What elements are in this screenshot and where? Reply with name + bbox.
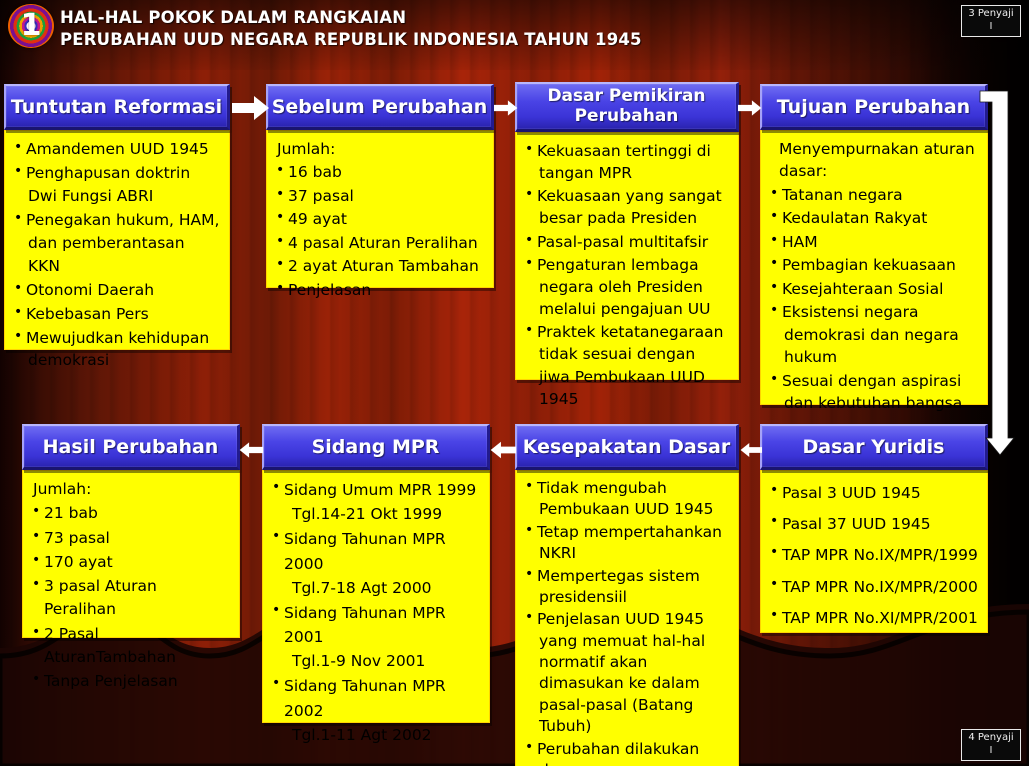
list-dasar-yuridis: Pasal 3 UUD 1945 Pasal 37 UUD 1945 TAP M… (769, 478, 979, 633)
list-item-text: Penegakan hukum, HAM, (26, 211, 219, 229)
node-header-dasar-yuridis[interactable]: Dasar Yuridis (760, 424, 988, 470)
logo-number: 1 (8, 4, 54, 48)
list-item-text: HAM (782, 233, 818, 251)
list-item: Otonomi Daerah (13, 279, 221, 302)
list-item: 16 bab (275, 161, 485, 183)
list-item: Tatanan negara (769, 184, 979, 206)
list-item: Penegakan hukum, HAM,dan pemberantasan K… (13, 209, 221, 278)
list-item: Kesejahteraan Sosial (769, 278, 979, 300)
list-item: Sidang Umum MPR 1999Tgl.14-21 Okt 1999 (271, 478, 481, 526)
list-item-text: Tidak mengubah (537, 479, 667, 497)
list-item-text: 170 ayat (44, 553, 113, 571)
list-item-cont: yang memuat hal-hal normatif akan dimasu… (537, 631, 730, 738)
arrow-left-icon-dasar-yuridis-to-kesepakatan (740, 437, 762, 463)
list-item-cont: negara oleh Presiden melalui pengajuan U… (537, 276, 730, 320)
list-item-text: Kekuasaan yang sangat (537, 187, 722, 205)
list-item-text: Penghapusan doktrin (26, 164, 190, 182)
arrow-right-icon-sebelum-to-dasar-pemikiran (494, 95, 518, 121)
list-item-text: TAP MPR No.IX/MPR/1999 (782, 546, 978, 564)
node-lead-sebelum-perubahan: Jumlah: (275, 138, 485, 160)
node-lead-tujuan-perubahan: Menyempurnakan aturan dasar: (769, 138, 979, 183)
list-item: Sidang Tahunan MPR 2002Tgl.1-11 Agt 2002 (271, 674, 481, 747)
list-item-cont: demokrasi dan negara hukum (782, 324, 979, 369)
list-item-text: Penjelasan (288, 281, 371, 299)
node-tuntutan-reformasi[interactable]: Tuntutan Reformasi Amandemen UUD 1945 Pe… (4, 84, 230, 350)
list-item-text: Sidang Tahunan MPR 2001 (284, 604, 446, 646)
list-item: Mempertegas sistempresidensiil (524, 566, 730, 609)
node-dasar-pemikiran-perubahan[interactable]: Dasar Pemikiran Perubahan Kekuasaan tert… (515, 82, 739, 380)
list-sidang-mpr: Sidang Umum MPR 1999Tgl.14-21 Okt 1999 S… (271, 478, 481, 747)
list-item-text: 73 pasal (44, 529, 110, 547)
arrow-wrap-icon-tujuan-to-dasar-yuridis (978, 86, 1024, 471)
list-dasar-pemikiran-perubahan: Kekuasaan tertinggi ditangan MPR Kekuasa… (524, 140, 730, 410)
list-item-cont: Tgl.7-18 Agt 2000 (284, 576, 481, 600)
list-item: Penjelasan (275, 279, 485, 301)
list-item: Sesuai dengan aspirasidan kebutuhan bang… (769, 370, 979, 415)
list-item-cont: besar pada Presiden (537, 207, 730, 229)
list-item-text: Tatanan negara (782, 186, 903, 204)
list-item-text: Mewujudkan kehidupan (26, 329, 209, 347)
list-hasil-perubahan: 21 bab 73 pasal 170 ayat 3 pasal Aturan … (31, 502, 231, 693)
list-item-text: Sidang Umum MPR 1999 (284, 481, 476, 499)
list-item-text: 4 pasal Aturan Peralihan (288, 234, 478, 252)
list-item-text: 37 pasal (288, 187, 354, 205)
list-item-cont: Pembukaan UUD 1945 (537, 499, 730, 520)
node-header-tujuan-perubahan[interactable]: Tujuan Perubahan (760, 84, 988, 130)
node-sebelum-perubahan[interactable]: Sebelum Perubahan Jumlah: 16 bab 37 pasa… (266, 84, 494, 288)
list-item: Amandemen UUD 1945 (13, 138, 221, 161)
node-header-dasar-pemikiran-perubahan[interactable]: Dasar Pemikiran Perubahan (515, 82, 739, 132)
list-item-text: Otonomi Daerah (26, 281, 154, 299)
list-item-text: Penjelasan UUD 1945 (537, 610, 704, 628)
list-item: Pasal-pasal multitafsir (524, 231, 730, 253)
list-item-text: Kekuasaan tertinggi di (537, 142, 711, 160)
list-item-text: 21 bab (44, 504, 98, 522)
list-item-text: Sidang Tahunan MPR 2002 (284, 677, 446, 719)
arrow-right-icon-dasar-pemikiran-to-tujuan (738, 95, 762, 121)
badge-bottom-line1: 4 Penyaji (968, 732, 1013, 743)
list-item: 170 ayat (31, 551, 231, 574)
list-item-cont: dan pemberantasan KKN (26, 232, 221, 278)
list-item: Penghapusan doktrinDwi Fungsi ABRI (13, 162, 221, 208)
list-item: Kekuasaan tertinggi ditangan MPR (524, 140, 730, 184)
list-item: Sidang Tahunan MPR 2001Tgl.1-9 Nov 2001 (271, 601, 481, 674)
list-item: 37 pasal (275, 185, 485, 207)
list-item-text: Pembagian kekuasaan (782, 256, 956, 274)
node-body-dasar-pemikiran-perubahan: Kekuasaan tertinggi ditangan MPR Kekuasa… (515, 132, 739, 380)
node-body-sidang-mpr: Sidang Umum MPR 1999Tgl.14-21 Okt 1999 S… (262, 470, 490, 723)
list-item: 49 ayat (275, 208, 485, 230)
arrow-right-icon-tuntutan-to-sebelum (232, 95, 270, 121)
list-item-text: 2 Pasal AturanTambahan (44, 625, 176, 666)
list-item: Pembagian kekuasaan (769, 254, 979, 276)
list-item-cont: dan kebutuhan bangsa (782, 392, 979, 414)
list-item-text: Tetap mempertahankan (537, 523, 722, 541)
list-item: Penjelasan UUD 1945yang memuat hal-hal n… (524, 609, 730, 737)
list-item-text: 49 ayat (288, 210, 347, 228)
list-item: Mewujudkan kehidupandemokrasi (13, 327, 221, 373)
node-header-hasil-perubahan[interactable]: Hasil Perubahan (22, 424, 240, 470)
title-line-2: PERUBAHAN UUD NEGARA REPUBLIK INDONESIA … (60, 29, 760, 51)
badge-top-line1: 3 Penyaji (968, 8, 1013, 19)
node-header-sebelum-perubahan[interactable]: Sebelum Perubahan (266, 84, 494, 130)
list-tuntutan-reformasi: Amandemen UUD 1945 Penghapusan doktrinDw… (13, 138, 221, 372)
list-sebelum-perubahan: 16 bab 37 pasal 49 ayat 4 pasal Aturan P… (275, 161, 485, 301)
list-item-text: Tanpa Penjelasan (44, 672, 178, 690)
node-lead-hasil-perubahan: Jumlah: (31, 478, 231, 501)
list-item: 21 bab (31, 502, 231, 525)
list-item-cont: NKRI (537, 543, 730, 564)
arrow-left-icon-sidang-to-hasil (239, 437, 263, 463)
list-item-text: Praktek ketatanegaraan (537, 323, 723, 341)
node-hasil-perubahan[interactable]: Hasil Perubahan Jumlah: 21 bab 73 pasal … (22, 424, 240, 638)
list-item-cont: Tgl.1-11 Agt 2002 (284, 723, 481, 747)
title-line-1: HAL-HAL POKOK DALAM RANGKAIAN (60, 7, 760, 29)
list-item-text: TAP MPR No.IX/MPR/2000 (782, 578, 978, 596)
list-item-text: Pengaturan lembaga (537, 256, 699, 274)
list-item-cont: Tgl.1-9 Nov 2001 (284, 649, 481, 673)
list-item-cont: demokrasi (26, 349, 221, 372)
node-body-dasar-yuridis: Pasal 3 UUD 1945 Pasal 37 UUD 1945 TAP M… (760, 470, 988, 633)
list-item-text: Pasal-pasal multitafsir (537, 233, 708, 251)
list-item-cont: tidak sesuai dengan jiwa Pembukaan UUD 1… (537, 343, 730, 409)
list-item: 2 ayat Aturan Tambahan (275, 255, 485, 277)
list-item-cont: presidensiil (537, 587, 730, 608)
node-tujuan-perubahan[interactable]: Tujuan Perubahan Menyempurnakan aturan d… (760, 84, 988, 405)
list-item-text: 3 pasal Aturan Peralihan (44, 577, 157, 618)
list-item: Perubahan dilakukandengan cara “adendum” (524, 739, 730, 766)
arrow-left-icon-kesepakatan-to-sidang (490, 437, 516, 463)
page-title: HAL-HAL POKOK DALAM RANGKAIAN PERUBAHAN … (60, 7, 760, 51)
list-item-text: 16 bab (288, 163, 342, 181)
slide-title-bar: 1 HAL-HAL POKOK DALAM RANGKAIAN PERUBAHA… (0, 0, 1029, 66)
list-item-cont: tangan MPR (537, 162, 730, 184)
node-body-tuntutan-reformasi: Amandemen UUD 1945 Penghapusan doktrinDw… (4, 130, 230, 350)
list-item-cont: dengan cara “adendum” (537, 760, 730, 766)
node-header-sidang-mpr[interactable]: Sidang MPR (262, 424, 490, 470)
node-header-kesepakatan-dasar[interactable]: Kesepakatan Dasar (515, 424, 739, 470)
node-sidang-mpr[interactable]: Sidang MPR Sidang Umum MPR 1999Tgl.14-21… (262, 424, 490, 723)
list-item: Pasal 3 UUD 1945 (769, 478, 979, 508)
node-kesepakatan-dasar[interactable]: Kesepakatan Dasar Tidak mengubahPembukaa… (515, 424, 739, 766)
list-item: TAP MPR No.IX/MPR/2000 (769, 572, 979, 602)
list-item: 73 pasal (31, 527, 231, 550)
list-item-text: Sidang Tahunan MPR 2000 (284, 530, 446, 572)
list-item-cont: Tgl.14-21 Okt 1999 (284, 502, 481, 526)
list-item-text: Eksistensi negara (782, 303, 919, 321)
list-kesepakatan-dasar: Tidak mengubahPembukaan UUD 1945 Tetap m… (524, 478, 730, 766)
list-item: HAM (769, 231, 979, 253)
list-item-text: Pasal 3 UUD 1945 (782, 484, 921, 502)
list-item: Kekuasaan yang sangatbesar pada Presiden (524, 185, 730, 229)
badge-bottom-right: 4 Penyaji I (961, 729, 1021, 761)
list-item: 4 pasal Aturan Peralihan (275, 232, 485, 254)
list-item: Tanpa Penjelasan (31, 670, 231, 693)
list-item: 2 Pasal AturanTambahan (31, 623, 231, 670)
badge-bottom-line2: I (966, 745, 1016, 758)
node-body-tujuan-perubahan: Menyempurnakan aturan dasar: Tatanan neg… (760, 130, 988, 405)
node-body-sebelum-perubahan: Jumlah: 16 bab 37 pasal 49 ayat 4 pasal … (266, 130, 494, 288)
node-dasar-yuridis[interactable]: Dasar Yuridis Pasal 3 UUD 1945 Pasal 37 … (760, 424, 988, 633)
badge-top-line2: I (966, 21, 1016, 34)
node-header-tuntutan-reformasi[interactable]: Tuntutan Reformasi (4, 84, 230, 130)
list-item-text: Kedaulatan Rakyat (782, 209, 927, 227)
node-body-hasil-perubahan: Jumlah: 21 bab 73 pasal 170 ayat 3 pasal… (22, 470, 240, 638)
slide-canvas: 1 HAL-HAL POKOK DALAM RANGKAIAN PERUBAHA… (0, 0, 1029, 766)
list-item-text: Amandemen UUD 1945 (26, 140, 209, 158)
list-item: Pasal 37 UUD 1945 (769, 509, 979, 539)
list-item: Praktek ketatanegaraantidak sesuai denga… (524, 321, 730, 410)
badge-top-right: 3 Penyaji I (961, 5, 1021, 37)
list-item-text: 2 ayat Aturan Tambahan (288, 257, 479, 275)
list-item-text: TAP MPR No.XI/MPR/2001 (782, 609, 978, 627)
list-item: Pengaturan lembaganegara oleh Presiden m… (524, 254, 730, 320)
list-item: TAP MPR No.XI/MPR/2001 (769, 603, 979, 633)
list-item-text: Sesuai dengan aspirasi (782, 372, 961, 390)
mpr-logo-icon: 1 (8, 4, 54, 48)
list-item-text: Perubahan dilakukan (537, 740, 699, 758)
list-tujuan-perubahan: Tatanan negara Kedaulatan Rakyat HAM Pem… (769, 184, 979, 415)
list-item: Tidak mengubahPembukaan UUD 1945 (524, 478, 730, 521)
list-item: TAP MPR No.IX/MPR/1999 (769, 540, 979, 570)
list-item: Sidang Tahunan MPR 2000Tgl.7-18 Agt 2000 (271, 527, 481, 600)
list-item: Kebebasan Pers (13, 303, 221, 326)
list-item-cont: Dwi Fungsi ABRI (26, 185, 221, 208)
list-item-text: Mempertegas sistem (537, 567, 700, 585)
list-item: Tetap mempertahankanNKRI (524, 522, 730, 565)
list-item-text: Kesejahteraan Sosial (782, 280, 943, 298)
list-item: 3 pasal Aturan Peralihan (31, 575, 231, 622)
list-item-text: Pasal 37 UUD 1945 (782, 515, 931, 533)
list-item: Kedaulatan Rakyat (769, 207, 979, 229)
list-item: Eksistensi negarademokrasi dan negara hu… (769, 301, 979, 368)
list-item-text: Kebebasan Pers (26, 305, 149, 323)
node-body-kesepakatan-dasar: Tidak mengubahPembukaan UUD 1945 Tetap m… (515, 470, 739, 766)
